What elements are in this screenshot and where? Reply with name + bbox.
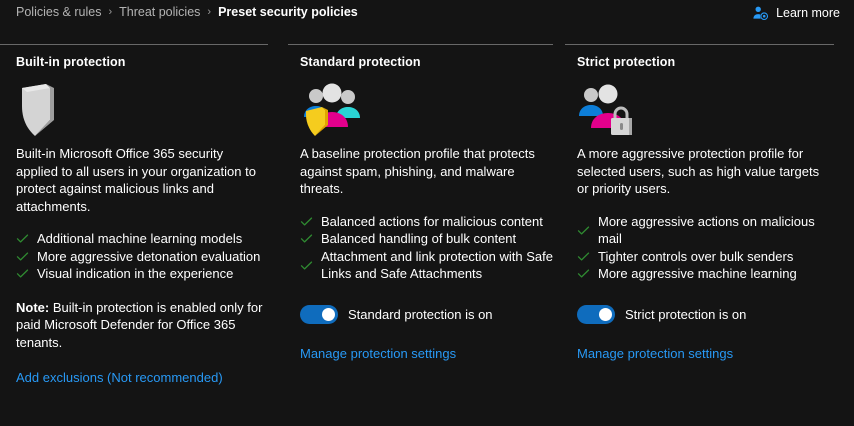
check-icon: [16, 232, 29, 245]
feature-item: Additional machine learning models: [16, 230, 264, 248]
people-shield-icon: [300, 73, 553, 141]
column-divider: [0, 44, 268, 45]
column-title-standard: Standard protection: [300, 55, 553, 73]
feature-text: More aggressive detonation evaluation: [37, 248, 264, 266]
column-strict-protection: Strict protection A more aggressive prot…: [565, 44, 846, 387]
protection-columns: Built-in protection Built-in Microsoft O…: [0, 44, 854, 387]
column-description-built-in: Built-in Microsoft Office 365 security a…: [16, 145, 264, 215]
learn-more-button[interactable]: Learn more: [752, 4, 840, 22]
feature-item: Balanced handling of bulk content: [300, 230, 553, 248]
breadcrumb-separator: ›: [108, 7, 112, 18]
column-title-strict: Strict protection: [577, 55, 834, 73]
feature-item: Visual indication in the experience: [16, 265, 264, 283]
feature-list-standard: Balanced actions for malicious content B…: [300, 213, 553, 283]
column-description-strict: A more aggressive protection profile for…: [577, 145, 834, 198]
feature-text: More aggressive machine learning: [598, 265, 834, 283]
toggle-knob: [322, 308, 335, 321]
feature-list-strict: More aggressive actions on malicious mai…: [577, 213, 834, 283]
toggle-switch-strict[interactable]: [577, 305, 615, 324]
feature-text: Visual indication in the experience: [37, 265, 264, 283]
toggle-label-standard: Standard protection is on: [348, 307, 493, 322]
manage-protection-settings-link-standard[interactable]: Manage protection settings: [300, 346, 456, 361]
check-icon: [16, 267, 29, 280]
feature-item: Attachment and link protection with Safe…: [300, 248, 553, 283]
column-spacer: [276, 44, 288, 387]
breadcrumb: Policies & rules › Threat policies › Pre…: [16, 3, 358, 21]
feature-item: More aggressive machine learning: [577, 265, 834, 283]
shield-grey-icon: [16, 73, 264, 141]
feature-item: Balanced actions for malicious content: [300, 213, 553, 231]
toggle-knob: [599, 308, 612, 321]
standard-protection-toggle[interactable]: Standard protection is on: [300, 305, 553, 324]
feature-item: Tighter controls over bulk senders: [577, 248, 834, 266]
manage-protection-settings-link-strict[interactable]: Manage protection settings: [577, 346, 733, 361]
feature-text: Balanced handling of bulk content: [321, 230, 553, 248]
feature-text: Tighter controls over bulk senders: [598, 248, 834, 266]
column-standard-protection: Standard protection A baseline protectio…: [288, 44, 565, 387]
column-description-standard: A baseline protection profile that prote…: [300, 145, 553, 198]
check-icon: [577, 267, 590, 280]
breadcrumb-item-threat-policies[interactable]: Threat policies: [119, 5, 200, 19]
feature-text: More aggressive actions on malicious mai…: [598, 213, 834, 248]
note-built-in: Note: Built-in protection is enabled onl…: [16, 299, 264, 352]
check-icon: [577, 224, 590, 237]
check-icon: [577, 250, 590, 263]
person-badge-icon: [752, 5, 769, 22]
breadcrumb-item-preset-security-policies[interactable]: Preset security policies: [218, 5, 358, 19]
feature-text: Additional machine learning models: [37, 230, 264, 248]
feature-item: More aggressive detonation evaluation: [16, 248, 264, 266]
feature-text: Balanced actions for malicious content: [321, 213, 553, 231]
breadcrumb-item-policies-rules[interactable]: Policies & rules: [16, 5, 101, 19]
check-icon: [300, 215, 313, 228]
column-divider: [565, 44, 834, 45]
feature-text: Attachment and link protection with Safe…: [321, 248, 553, 283]
check-icon: [300, 232, 313, 245]
column-divider: [288, 44, 553, 45]
column-built-in-protection: Built-in protection Built-in Microsoft O…: [0, 44, 276, 387]
note-label: Note:: [16, 300, 49, 315]
strict-protection-toggle[interactable]: Strict protection is on: [577, 305, 834, 324]
column-title-built-in: Built-in protection: [16, 55, 264, 73]
people-lock-icon: [577, 73, 834, 141]
breadcrumb-separator: ›: [207, 7, 211, 18]
feature-list-built-in: Additional machine learning models More …: [16, 230, 264, 283]
add-exclusions-link[interactable]: Add exclusions (Not recommended): [16, 370, 223, 385]
feature-item: More aggressive actions on malicious mai…: [577, 213, 834, 248]
learn-more-label: Learn more: [776, 6, 840, 20]
toggle-switch-standard[interactable]: [300, 305, 338, 324]
check-icon: [300, 259, 313, 272]
check-icon: [16, 250, 29, 263]
note-text: Built-in protection is enabled only for …: [16, 300, 262, 350]
toggle-label-strict: Strict protection is on: [625, 307, 746, 322]
preset-security-policies-page: Policies & rules › Threat policies › Pre…: [0, 0, 854, 426]
